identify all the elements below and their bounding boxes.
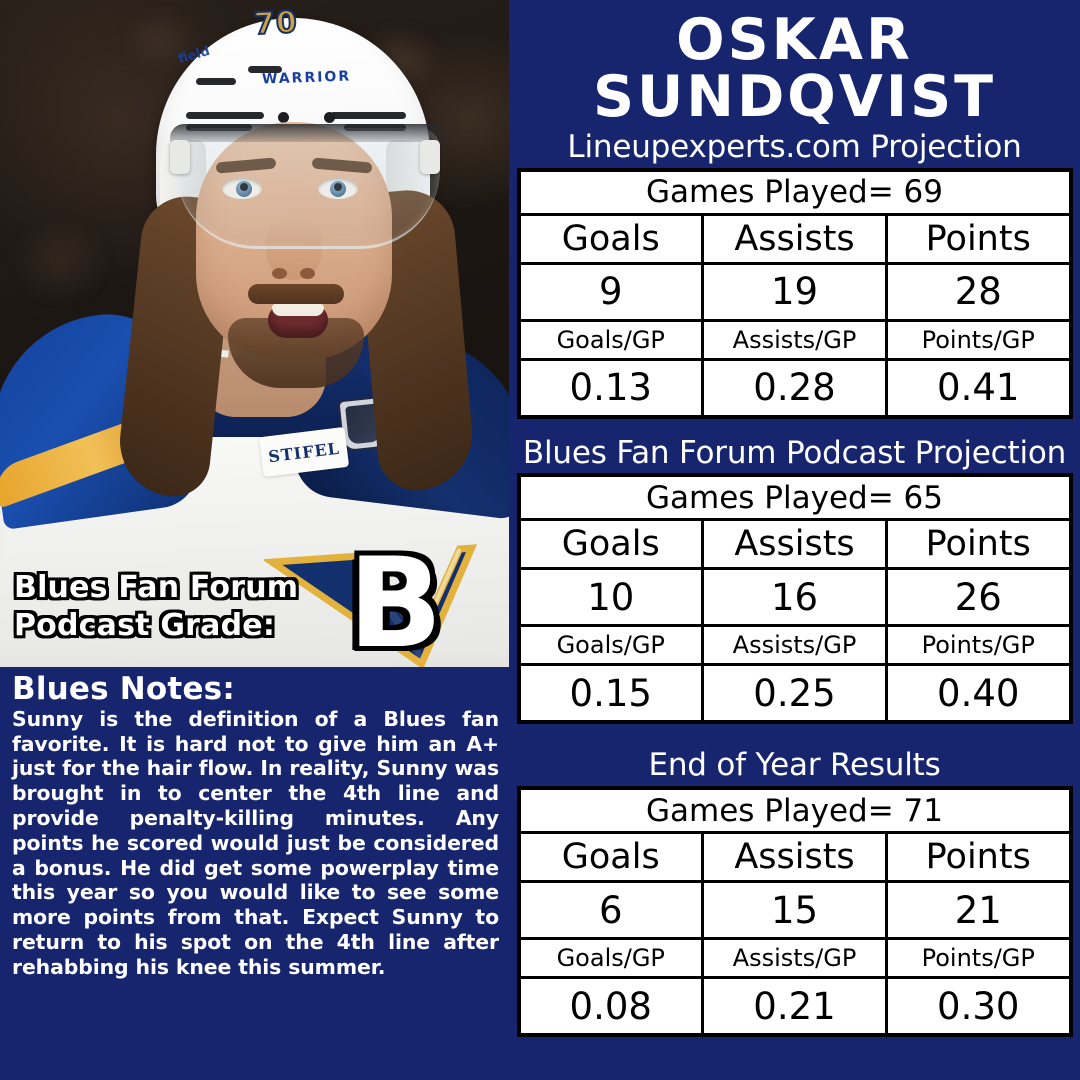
blues-notes-body: Sunny is the definition of a Blues fan f… [12, 707, 499, 980]
player-name-block: OSKAR SUNDQVIST [509, 0, 1080, 126]
table-row-headers: Goals Assists Points [519, 520, 1071, 569]
grade-label-line1: Blues Fan Forum [14, 569, 344, 607]
games-played-cell: Games Played= 69 [519, 170, 1071, 215]
header-points: Points [887, 833, 1071, 882]
value-points: 21 [887, 882, 1071, 939]
value-points: 28 [887, 263, 1071, 320]
player-photo: STIFEL 70 field WARRIOR [0, 0, 509, 667]
helmet-visor-edge [170, 124, 446, 142]
value-points-per-gp: 0.40 [887, 665, 1071, 723]
table-row-rate-headers: Goals/GP Assists/GP Points/GP [519, 626, 1071, 665]
value-goals-per-gp: 0.13 [519, 359, 703, 417]
table-row-totals: 6 15 21 [519, 882, 1071, 939]
helmet-brand-decal: WARRIOR [262, 68, 352, 87]
value-assists-per-gp: 0.25 [703, 665, 887, 723]
value-goals-per-gp: 0.15 [519, 665, 703, 723]
table-title-podcast: Blues Fan Forum Podcast Projection [509, 432, 1080, 474]
header-assists: Assists [703, 520, 887, 569]
header-assists-per-gp: Assists/GP [703, 939, 887, 978]
value-points-per-gp: 0.41 [887, 359, 1071, 417]
table-row-totals: 10 16 26 [519, 569, 1071, 626]
stats-table-podcast: Games Played= 65 Goals Assists Points 10… [517, 473, 1073, 724]
table-row-rates: 0.13 0.28 0.41 [519, 359, 1071, 417]
table-row-games-played: Games Played= 71 [519, 788, 1071, 833]
header-points: Points [887, 214, 1071, 263]
header-assists: Assists [703, 214, 887, 263]
value-assists: 15 [703, 882, 887, 939]
games-played-cell: Games Played= 71 [519, 788, 1071, 833]
blues-notes-panel: Blues Notes: Sunny is the definition of … [0, 667, 509, 1080]
grade-label: Blues Fan Forum Podcast Grade: [14, 569, 344, 646]
player-card: STIFEL 70 field WARRIOR [0, 0, 1080, 1080]
header-assists-per-gp: Assists/GP [703, 626, 887, 665]
header-goals: Goals [519, 520, 703, 569]
player-teeth [272, 304, 324, 316]
grade-label-line2: Podcast Grade: [14, 607, 344, 645]
header-points: Points [887, 520, 1071, 569]
blues-notes-heading: Blues Notes: [12, 673, 499, 706]
value-assists: 16 [703, 569, 887, 626]
table-row-totals: 9 19 28 [519, 263, 1071, 320]
player-mustache [248, 284, 344, 304]
table-row-headers: Goals Assists Points [519, 833, 1071, 882]
header-goals-per-gp: Goals/GP [519, 320, 703, 359]
header-goals-per-gp: Goals/GP [519, 626, 703, 665]
value-assists: 19 [703, 263, 887, 320]
header-goals: Goals [519, 833, 703, 882]
header-goals: Goals [519, 214, 703, 263]
value-goals-per-gp: 0.08 [519, 978, 703, 1036]
player-last-name: SUNDQVIST [509, 69, 1080, 126]
helmet-number: 70 [253, 5, 299, 42]
grade-letter: B [348, 550, 443, 659]
table-row-games-played: Games Played= 65 [519, 475, 1071, 520]
header-assists: Assists [703, 833, 887, 882]
header-points-per-gp: Points/GP [887, 626, 1071, 665]
table-row-rates: 0.08 0.21 0.30 [519, 978, 1071, 1036]
stats-table-lineupexperts: Games Played= 69 Goals Assists Points 9 … [517, 168, 1073, 419]
player-first-name: OSKAR [509, 12, 1080, 69]
table-row-headers: Goals Assists Points [519, 214, 1071, 263]
table-row-rate-headers: Goals/GP Assists/GP Points/GP [519, 939, 1071, 978]
header-points-per-gp: Points/GP [887, 320, 1071, 359]
games-played-cell: Games Played= 65 [519, 475, 1071, 520]
table-row-games-played: Games Played= 69 [519, 170, 1071, 215]
value-goals: 10 [519, 569, 703, 626]
value-goals: 9 [519, 263, 703, 320]
table-row-rate-headers: Goals/GP Assists/GP Points/GP [519, 320, 1071, 359]
value-points: 26 [887, 569, 1071, 626]
left-column: STIFEL 70 field WARRIOR [0, 0, 509, 1080]
right-column: OSKAR SUNDQVIST Lineupexperts.com Projec… [509, 0, 1080, 1080]
header-goals-per-gp: Goals/GP [519, 939, 703, 978]
helmet-visor [176, 128, 440, 249]
table-title-end-of-year: End of Year Results [509, 744, 1080, 786]
table-row-rates: 0.15 0.25 0.40 [519, 665, 1071, 723]
value-assists-per-gp: 0.21 [703, 978, 887, 1036]
header-points-per-gp: Points/GP [887, 939, 1071, 978]
value-goals: 6 [519, 882, 703, 939]
table-title-lineupexperts: Lineupexperts.com Projection [509, 126, 1080, 168]
grade-overlay: Blues Fan Forum Podcast Grade: B [14, 553, 504, 661]
header-assists-per-gp: Assists/GP [703, 320, 887, 359]
stats-table-end-of-year: Games Played= 71 Goals Assists Points 6 … [517, 786, 1073, 1037]
value-points-per-gp: 0.30 [887, 978, 1071, 1036]
value-assists-per-gp: 0.28 [703, 359, 887, 417]
